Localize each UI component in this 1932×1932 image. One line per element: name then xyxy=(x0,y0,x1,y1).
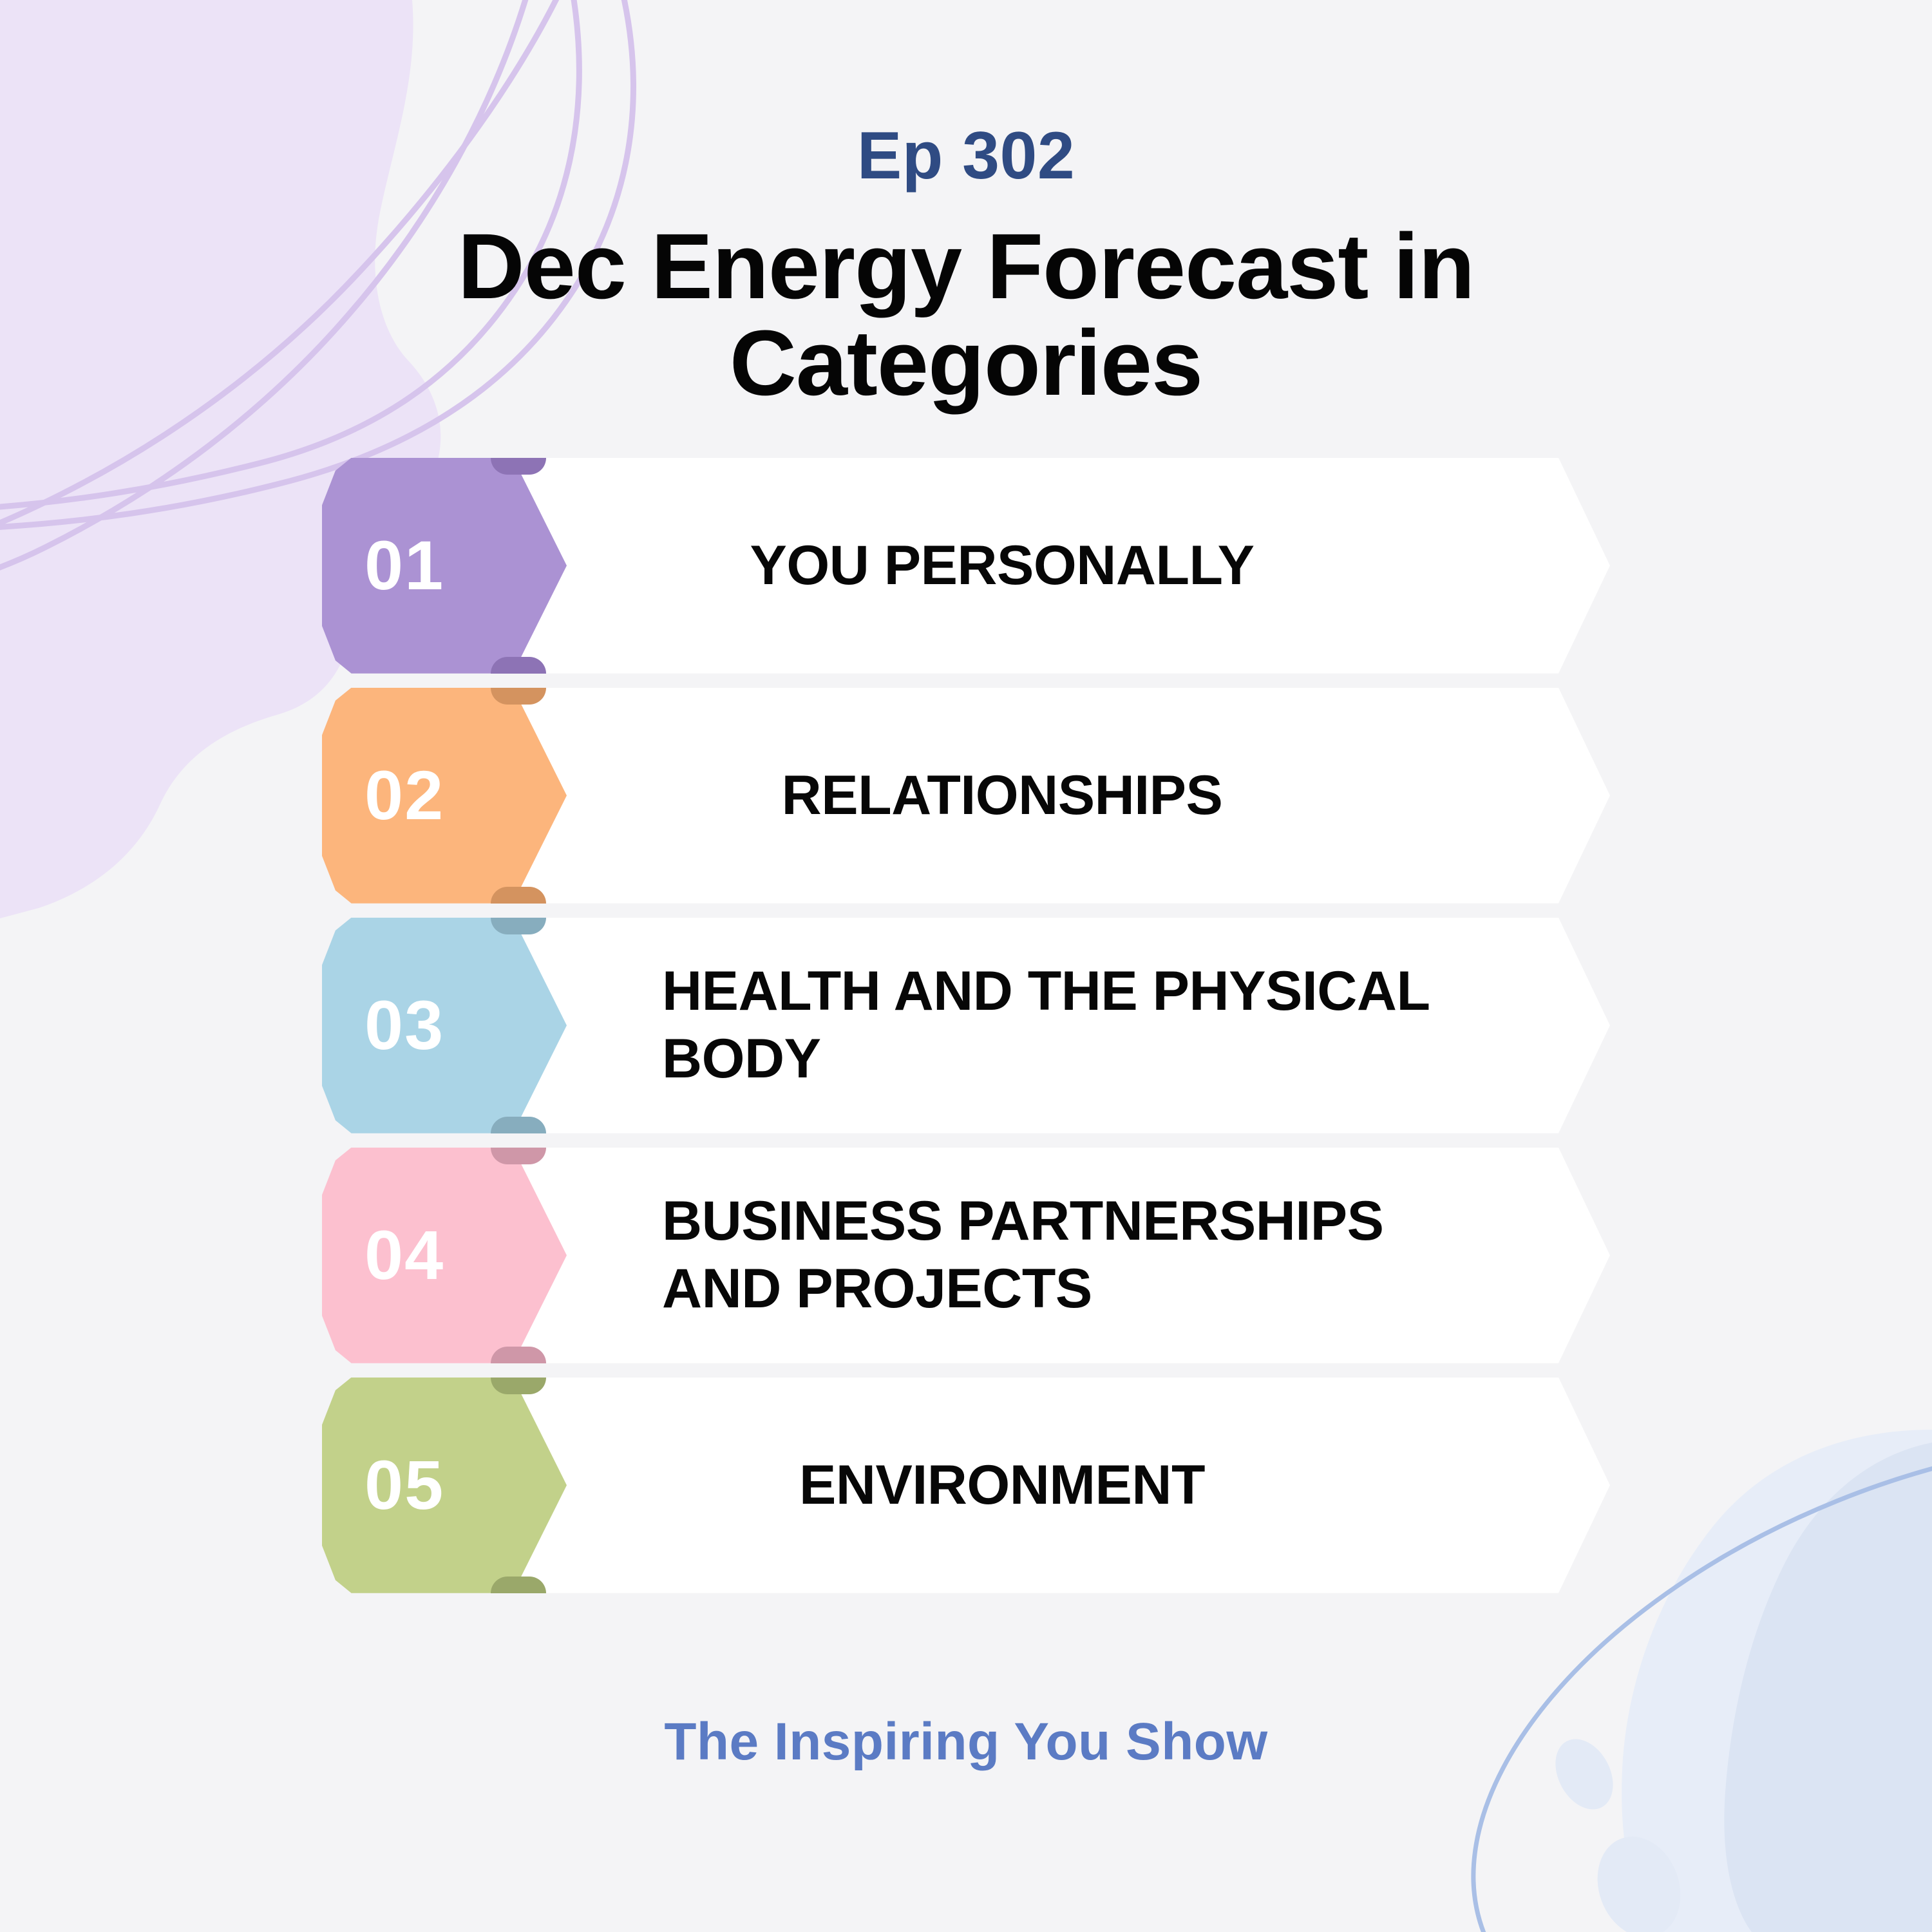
category-card: YOU PERSONALLY xyxy=(491,458,1610,674)
category-number: 03 xyxy=(365,990,444,1060)
category-number: 02 xyxy=(365,761,444,830)
category-label: RELATIONSHIPS xyxy=(782,762,1223,829)
category-label: YOU PERSONALLY xyxy=(750,532,1254,600)
category-card: RELATIONSHIPS xyxy=(491,688,1610,904)
category-list: 01 YOU PERSONALLY 02 RELATIONSHIPS 03 xyxy=(322,458,1610,1593)
category-row[interactable]: 03 HEALTH AND THE PHYSICAL BODY xyxy=(322,918,1610,1133)
category-row[interactable]: 02 RELATIONSHIPS xyxy=(322,688,1610,904)
category-number: 01 xyxy=(365,531,444,600)
category-number: 04 xyxy=(365,1220,444,1290)
category-label: BUSINESS PARTNERSHIPS AND PROJECTS xyxy=(662,1188,1513,1323)
category-label: HEALTH AND THE PHYSICAL BODY xyxy=(662,958,1513,1093)
category-row[interactable]: 04 BUSINESS PARTNERSHIPS AND PROJECTS xyxy=(322,1148,1610,1363)
category-number: 05 xyxy=(365,1450,444,1520)
footer: The Inspiring You Show xyxy=(0,1712,1932,1772)
header: Ep 302 Dec Energy Forecast in Categories xyxy=(0,0,1932,412)
category-row[interactable]: 05 ENVIRONMENT xyxy=(322,1378,1610,1593)
category-card: HEALTH AND THE PHYSICAL BODY xyxy=(491,918,1610,1133)
category-card: ENVIRONMENT xyxy=(491,1378,1610,1593)
poster-page: Ep 302 Dec Energy Forecast in Categories… xyxy=(0,0,1932,1932)
category-label: ENVIRONMENT xyxy=(799,1452,1205,1519)
page-title: Dec Energy Forecast in Categories xyxy=(322,218,1610,412)
episode-label: Ep 302 xyxy=(0,121,1932,191)
category-card: BUSINESS PARTNERSHIPS AND PROJECTS xyxy=(491,1148,1610,1363)
show-name: The Inspiring You Show xyxy=(0,1712,1932,1772)
category-row[interactable]: 01 YOU PERSONALLY xyxy=(322,458,1610,674)
